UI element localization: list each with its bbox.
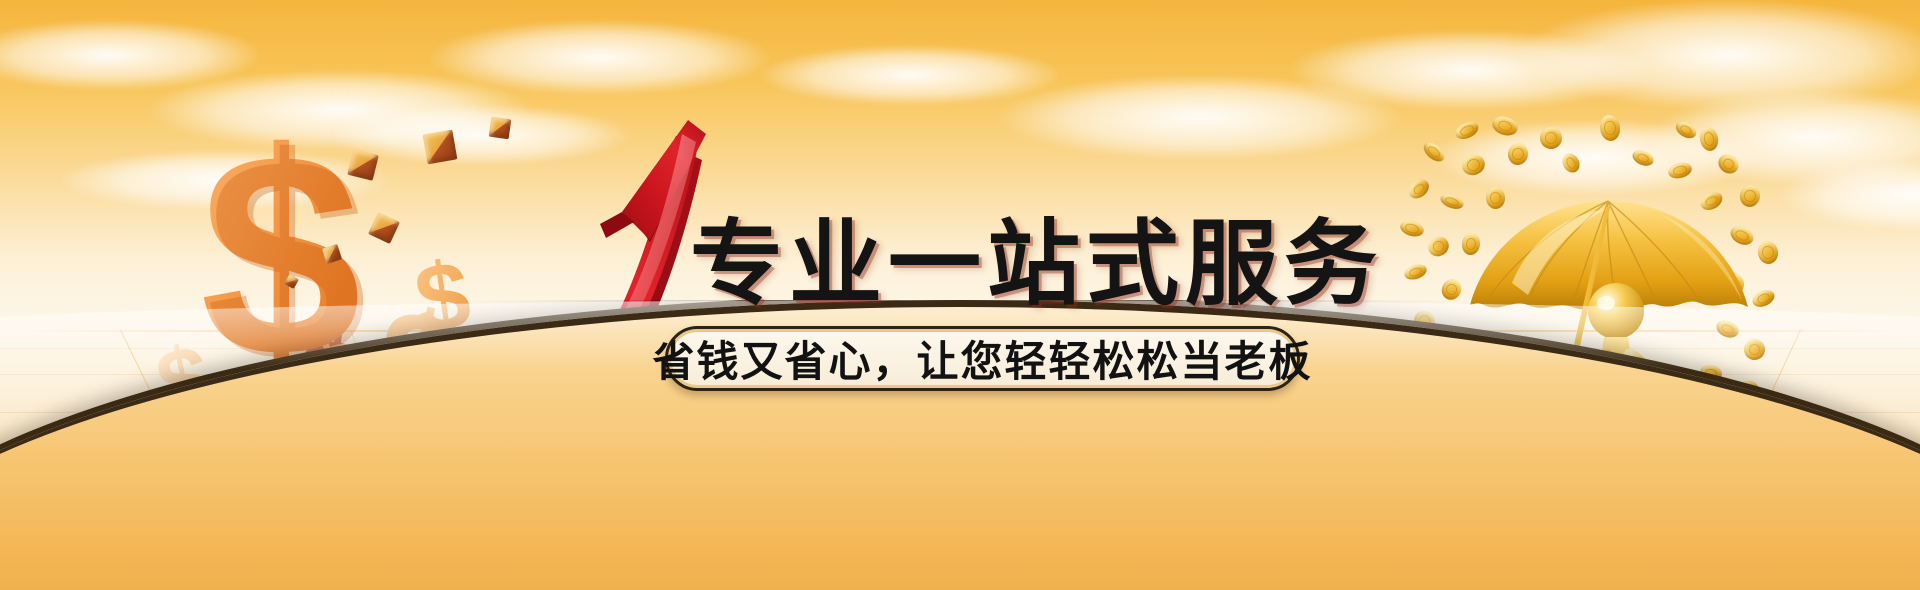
page-title: 专业一站式服务 <box>690 188 1383 323</box>
cloud <box>430 20 770 95</box>
cloud <box>760 45 1060 105</box>
promo-banner: $ $ $ $ $ $ $ $ $ <box>0 0 1920 590</box>
subtitle-badge: 省钱又省心，让您轻轻松松当老板 <box>665 326 1300 391</box>
subtitle-text: 省钱又省心，让您轻轻松松当老板 <box>653 328 1313 389</box>
